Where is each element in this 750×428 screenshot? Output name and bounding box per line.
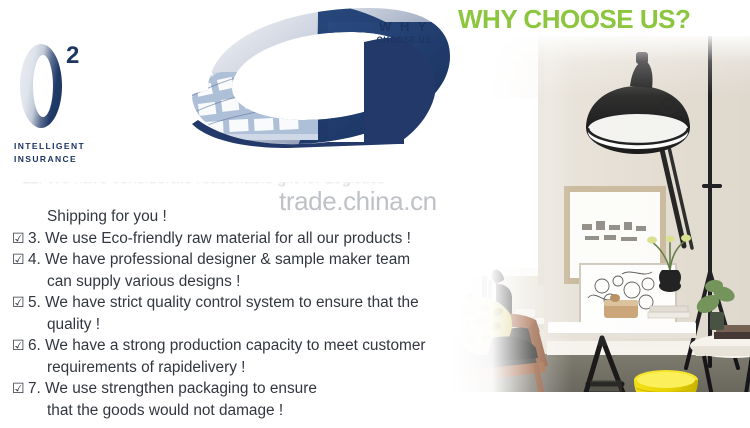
list-item: that the goods would not damage ! <box>12 400 450 422</box>
list-item: requirements of rapidelivery ! <box>12 357 450 379</box>
checkbox-icon: ☑ <box>12 292 28 314</box>
left-panel: 2 INTELLIGENT INSURANCE <box>0 0 452 428</box>
list-item-text: that the goods would not damage ! <box>28 400 283 422</box>
list-item: ☑ 7. We use strengthen packaging to ensu… <box>12 378 450 400</box>
logo-ring-inner <box>33 55 53 117</box>
promo-banner-page: 2 INTELLIGENT INSURANCE <box>0 0 750 428</box>
logo-wordmark: INTELLIGENT INSURANCE <box>14 140 114 166</box>
right-panel: WHY CHOOSE US? <box>452 0 750 428</box>
list-item-text: 5. We have strict quality control system… <box>28 292 419 314</box>
list-item: can supply various designs ! <box>12 271 450 293</box>
list-item-text: 6. We have a strong production capacity … <box>28 335 426 357</box>
page-title: WHY CHOOSE US? <box>458 4 750 35</box>
logo-superscript: 2 <box>66 44 79 68</box>
list-item-text: can supply various designs ! <box>28 271 240 293</box>
list-item-text: 4. We have professional designer & sampl… <box>28 249 410 271</box>
company-logo: 2 INTELLIGENT INSURANCE <box>14 42 114 166</box>
logo-wordmark-line1: INTELLIGENT <box>14 140 114 153</box>
logo-ring-icon <box>20 44 62 128</box>
checkbox-icon: ☑ <box>12 378 28 400</box>
checkbox-icon: ☑ <box>12 335 28 357</box>
logo-o2-mark: 2 <box>14 42 98 134</box>
list-item-text: 7. We use strengthen packaging to ensure <box>28 378 317 400</box>
feature-list: Shipping for you ! ☑ 3. We use Eco-frien… <box>12 206 450 421</box>
list-item-text: requirements of rapidelivery ! <box>28 357 245 379</box>
list-item: ☑ 6. We have a strong production capacit… <box>12 335 450 357</box>
checkbox-icon: ☑ <box>12 228 28 250</box>
logo-wordmark-line2: INSURANCE <box>14 153 114 166</box>
swoosh-banner-graphic <box>168 2 450 160</box>
list-item: ☑ 3. We use Eco-friendly raw material fo… <box>12 228 450 250</box>
list-item: ☑ 5. We have strict quality control syst… <box>12 292 450 314</box>
watermark-text: trade.china.cn <box>279 186 437 217</box>
checkbox-icon: ☑ <box>12 249 28 271</box>
list-item: quality ! <box>12 314 450 336</box>
list-item-text: 3. We use Eco-friendly raw material for … <box>28 228 411 250</box>
list-item: ☑ 4. We have professional designer & sam… <box>12 249 450 271</box>
list-item-text: quality ! <box>28 314 100 336</box>
interior-office-photo <box>452 36 750 418</box>
list-item-text: Shipping for you ! <box>28 206 167 228</box>
